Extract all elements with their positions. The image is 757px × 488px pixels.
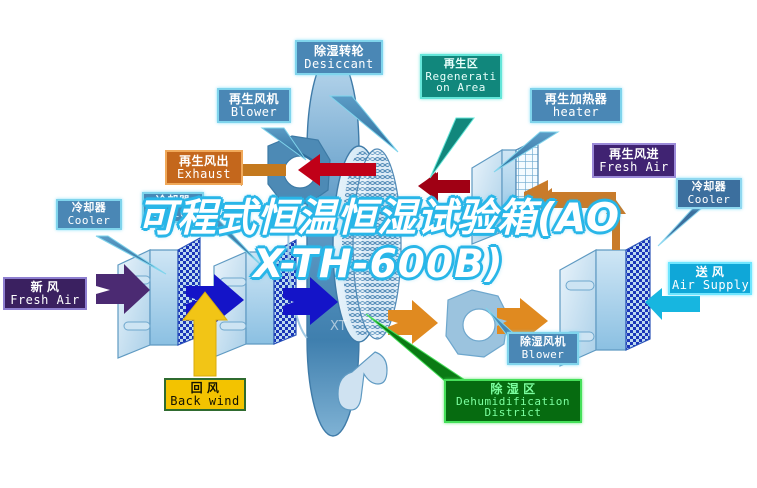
desiccant-rotor-wheel: XT [288, 52, 401, 436]
label-cooler-right-en: Cooler [680, 194, 738, 206]
label-cooler-left-2-en: Cooler [146, 208, 200, 220]
arrow-regen-fresh-air [524, 180, 626, 250]
leader-regen-area [430, 118, 474, 178]
label-regen-blower-cn: 再生风机 [221, 93, 287, 106]
label-regen-fresh-air-cn: 再生风进 [596, 148, 672, 161]
label-regen-exhaust-en: Exhaust [169, 168, 239, 181]
label-dehumidification-district-en2: District [448, 407, 578, 419]
label-regen-heater-en: heater [534, 106, 618, 119]
label-cooler-left-2-cn: 冷却器 [146, 196, 200, 208]
label-regen-fresh-air[interactable]: 再生风进 Fresh Air [592, 143, 676, 178]
label-regen-heater[interactable]: 再生加热器 heater [530, 88, 622, 123]
label-regeneration-area[interactable]: 再生区 Regenerati on Area [420, 54, 502, 99]
label-back-wind-en: Back wind [168, 395, 242, 408]
label-regeneration-area-en2: on Area [424, 82, 498, 94]
diagram-canvas: XT [0, 0, 757, 488]
label-air-supply-en: Air Supply [672, 279, 748, 292]
label-regen-exhaust[interactable]: 再生风出 Exhaust [165, 150, 243, 185]
label-back-wind[interactable]: 回 风 Back wind [164, 378, 246, 411]
leader-cooler-left-2 [196, 208, 262, 266]
label-dehumidification-district[interactable]: 除 湿 区 Dehumidification District [444, 379, 582, 423]
label-fresh-air[interactable]: 新 风 Fresh Air [3, 277, 87, 310]
label-back-wind-cn: 回 风 [168, 382, 242, 395]
label-desiccant-wheel-cn: 除湿转轮 [299, 45, 379, 58]
arrow-regen-hot-to-rotor [418, 172, 470, 201]
label-air-supply[interactable]: 送 风 Air Supply [668, 262, 752, 295]
label-cooler-left-1-cn: 冷却器 [60, 203, 118, 215]
label-cooler-left-2[interactable]: 冷却器 Cooler [142, 192, 204, 223]
label-cooler-right[interactable]: 冷却器 Cooler [676, 178, 742, 209]
label-fresh-air-en: Fresh Air [7, 294, 83, 307]
label-cooler-left-1[interactable]: 冷却器 Cooler [56, 199, 122, 230]
label-dehum-blower-en: Blower [511, 349, 575, 361]
label-regen-exhaust-cn: 再生风出 [169, 155, 239, 168]
label-cooler-right-cn: 冷却器 [680, 182, 738, 194]
label-fresh-air-cn: 新 风 [7, 281, 83, 294]
label-regeneration-area-cn: 再生区 [424, 59, 498, 71]
label-regen-blower-en: Blower [221, 106, 287, 119]
label-dehumidification-district-cn: 除 湿 区 [448, 383, 578, 396]
label-dehum-blower[interactable]: 除湿风机 Blower [507, 332, 579, 365]
rotor-watermark: XT [330, 319, 347, 334]
label-regen-blower[interactable]: 再生风机 Blower [217, 88, 291, 123]
label-air-supply-cn: 送 风 [672, 266, 748, 279]
label-regen-fresh-air-en: Fresh Air [596, 161, 672, 174]
label-desiccant-wheel-en: Desiccant [299, 58, 379, 71]
label-regen-heater-cn: 再生加热器 [534, 93, 618, 106]
label-cooler-left-1-en: Cooler [60, 215, 118, 227]
label-desiccant-wheel[interactable]: 除湿转轮 Desiccant [295, 40, 383, 75]
label-dehum-blower-cn: 除湿风机 [511, 337, 575, 349]
